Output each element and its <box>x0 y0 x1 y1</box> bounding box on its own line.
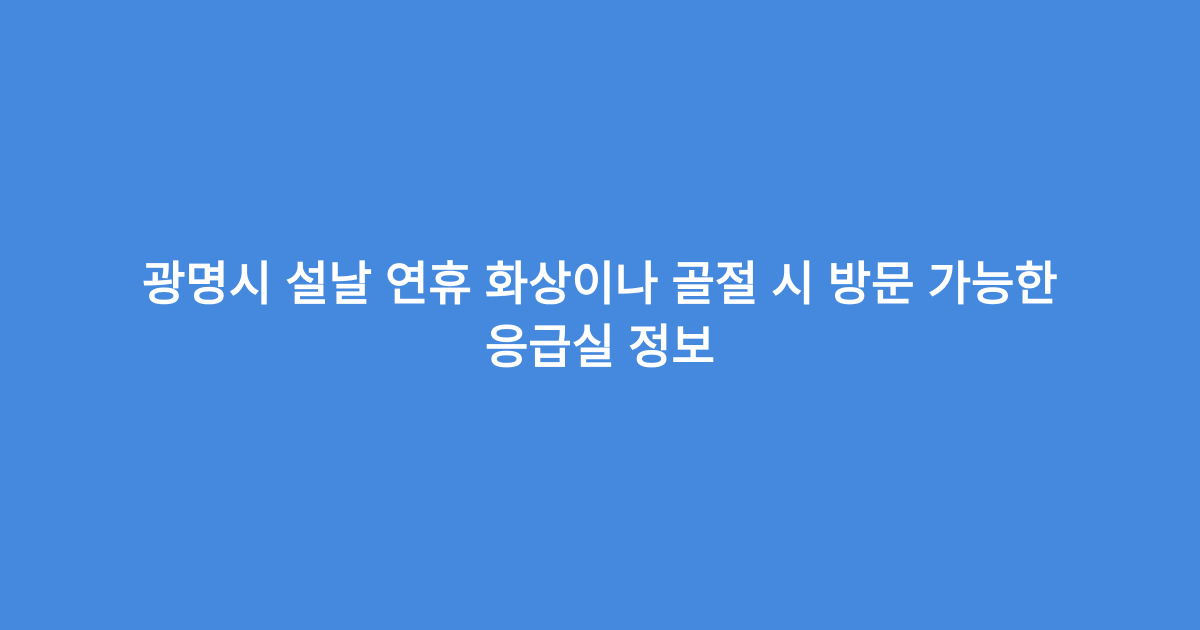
page-title: 광명시 설날 연휴 화상이나 골절 시 방문 가능한 응급실 정보 <box>95 252 1105 378</box>
og-image-card: 광명시 설날 연휴 화상이나 골절 시 방문 가능한 응급실 정보 <box>0 0 1200 630</box>
headline-block: 광명시 설날 연휴 화상이나 골절 시 방문 가능한 응급실 정보 <box>95 252 1105 378</box>
